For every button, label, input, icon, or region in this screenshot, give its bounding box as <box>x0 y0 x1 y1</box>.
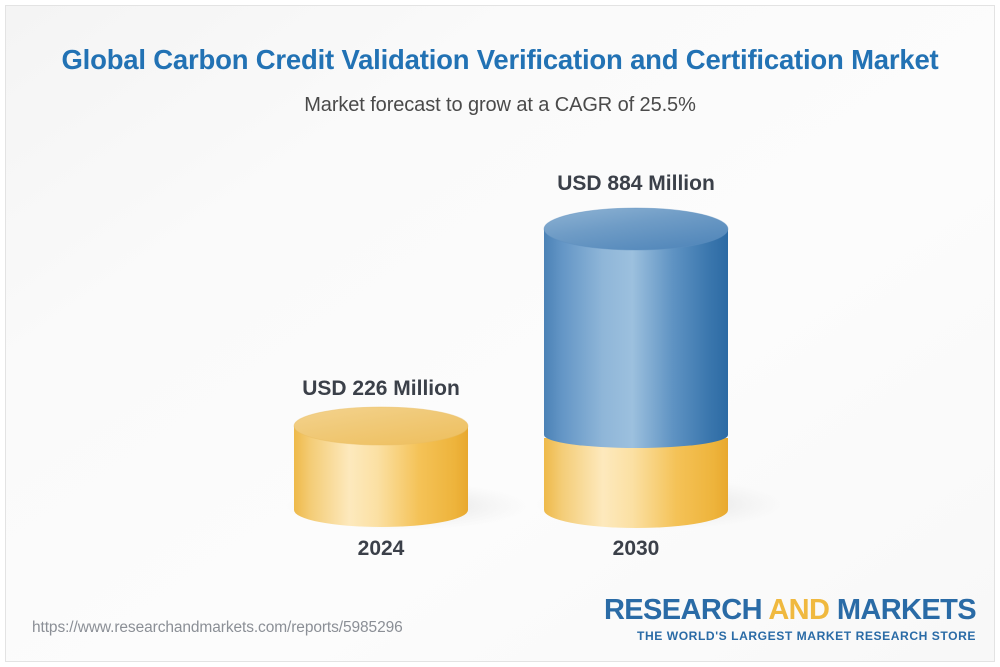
brand-wordmark: RESEARCH AND MARKETS <box>604 596 976 625</box>
category-label-2030: 2030 <box>511 537 761 561</box>
brand-word-research: RESEARCH <box>604 594 762 626</box>
brand-tagline: THE WORLD'S LARGEST MARKET RESEARCH STOR… <box>604 630 976 642</box>
chart-frame: Global Carbon Credit Validation Verifica… <box>5 5 995 662</box>
cylinder-bars-svg <box>6 6 995 662</box>
source-url[interactable]: https://www.researchandmarkets.com/repor… <box>32 619 403 637</box>
infographic-canvas: Global Carbon Credit Validation Verifica… <box>0 0 1000 667</box>
bar-cylinder-2030 <box>544 208 728 528</box>
value-label-2030: USD 884 Million <box>511 172 761 196</box>
chart-plot-area: USD 226 Million USD 884 Million 2024 203… <box>6 6 994 661</box>
bar-segment-2030-top <box>544 229 728 448</box>
brand-word-and: AND <box>768 594 829 626</box>
brand-logo[interactable]: RESEARCH AND MARKETS THE WORLD'S LARGEST… <box>604 596 976 642</box>
category-label-2024: 2024 <box>261 537 501 561</box>
bar-shadow-2030 <box>536 478 786 530</box>
bar-cylinder-2024 <box>294 407 468 527</box>
brand-word-markets: MARKETS <box>837 594 976 626</box>
bar-shadow-2024 <box>286 482 526 530</box>
bar-segment-2030-base <box>544 438 728 528</box>
value-label-2024: USD 226 Million <box>261 377 501 401</box>
